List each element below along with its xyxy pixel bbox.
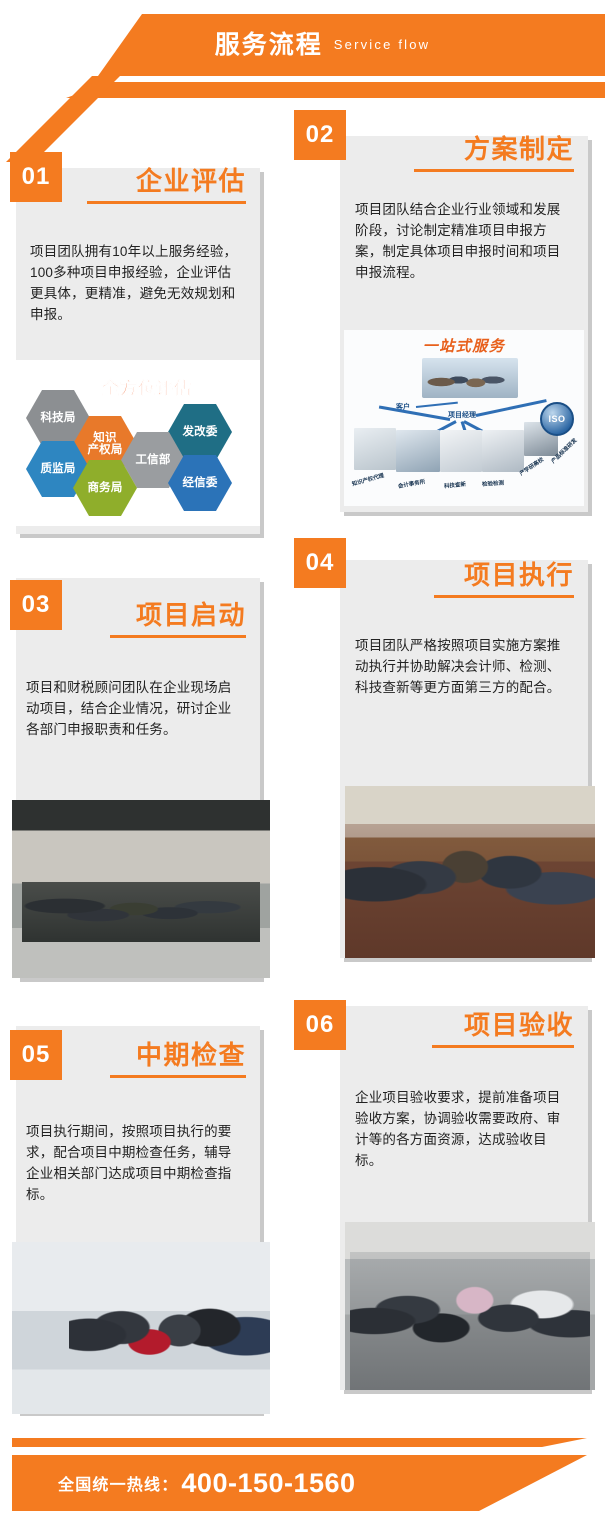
hex-node-label: 知识产权局 — [87, 432, 122, 457]
lobby-visit-photo — [12, 1242, 270, 1414]
iso-seal-text: ISO — [548, 414, 565, 424]
card-04-number: 04 — [306, 549, 335, 577]
hex-node-label: 科技局 — [40, 412, 75, 424]
card-05-title-rule — [110, 1075, 246, 1078]
footer-hotline: 全国统一热线： 400-150-1560 — [58, 1455, 356, 1511]
page-subtitle: Service flow — [334, 38, 430, 52]
one-stop-node-manager: 项目经理 — [448, 410, 476, 420]
card-06-title: 项目验收 — [400, 1012, 574, 1038]
card-05-number: 05 — [22, 1041, 51, 1069]
card-04-number-badge: 04 — [294, 538, 346, 588]
hex-node-label: 商务局 — [87, 482, 122, 494]
card-01-number: 01 — [22, 163, 51, 191]
meeting-table-working-photo — [345, 786, 595, 958]
card-04-body: 项目团队严格按照项目实施方案推动执行并协助解决会计师、检测、科技查新等更方面第三… — [355, 636, 571, 699]
photo-content — [345, 786, 595, 958]
one-stop-arrow — [379, 406, 450, 421]
header-title-group: 服务流程 Service flow — [0, 14, 605, 76]
one-stop-caption: 会计事务所 — [397, 477, 425, 490]
boardroom-acceptance-photo — [345, 1222, 595, 1390]
card-02-number: 02 — [306, 121, 335, 149]
hex-node-label: 经信委 — [182, 477, 217, 489]
one-stop-arrow — [416, 402, 458, 408]
card-02-body: 项目团队结合企业行业领域和发展阶段，讨论制定精准项目申报方案，制定具体项目申报时… — [355, 200, 567, 284]
card-06-number-badge: 06 — [294, 1000, 346, 1050]
one-stop-arrow — [476, 399, 547, 417]
card-03-title: 项目启动 — [76, 602, 246, 628]
card-02-title-rule — [414, 169, 574, 172]
footer-hotline-number[interactable]: 400-150-1560 — [181, 1468, 355, 1499]
photo-content — [12, 1242, 270, 1414]
card-03-number: 03 — [22, 591, 51, 619]
card-02-number-badge: 02 — [294, 110, 346, 160]
one-stop-title: 一站式服务 — [344, 335, 584, 356]
one-stop-caption: 检验检测 — [482, 478, 505, 488]
card-01-title: 企业评估 — [76, 168, 246, 194]
one-stop-tile-testing — [482, 430, 524, 472]
photo-content — [12, 800, 270, 978]
hexagon-assessment-diagram: 全方位评估 科技局 知识产权局 发改委 质监局 工信部 商务局 经信委 — [16, 360, 260, 526]
hexagon-diagram-title: 全方位评估 — [102, 374, 192, 399]
card-04-title: 项目执行 — [400, 562, 574, 588]
card-05-title: 中期检查 — [76, 1042, 246, 1068]
card-03-header: 项目启动 — [76, 602, 246, 638]
conference-room-kickoff-photo — [12, 800, 270, 978]
card-05-body: 项目执行期间，按照项目执行的要求，配合项目中期检查任务，辅导企业相关部门达成项目… — [26, 1122, 240, 1206]
one-stop-service-diagram: 一站式服务 客户 项目经理 ISO 知识产权代理 会计事务所 科技查新 检验检测… — [344, 330, 584, 506]
one-stop-iso-seal: ISO — [540, 402, 574, 436]
card-05-number-badge: 05 — [10, 1030, 62, 1080]
card-03-body: 项目和财税顾问团队在企业现场启动项目，结合企业情况，研讨企业各部门申报职责和任务… — [26, 678, 240, 741]
card-06-number: 06 — [306, 1011, 335, 1039]
card-01-title-rule — [87, 201, 246, 204]
one-stop-tile-accounting — [396, 430, 440, 472]
one-stop-tile-search — [440, 430, 482, 472]
card-06-body: 企业项目验收要求，提前准备项目验收方案，协调验收需要政府、审计等的各方面资源，达… — [355, 1088, 571, 1172]
page-title: 服务流程 — [215, 33, 323, 58]
card-04-title-rule — [434, 595, 574, 598]
hex-node-label: 发改委 — [182, 426, 217, 438]
card-03-title-rule — [110, 635, 246, 638]
footer-orange-stripe — [12, 1438, 587, 1447]
one-stop-tile-ip — [354, 428, 396, 470]
footer-hotline-label: 全国统一热线： — [58, 1471, 178, 1495]
one-stop-center-photo — [422, 358, 518, 398]
hex-node-label: 工信部 — [135, 454, 170, 466]
card-01-header: 企业评估 — [76, 168, 246, 204]
photo-content — [345, 1222, 595, 1390]
card-01-number-badge: 01 — [10, 152, 62, 202]
hex-node-label: 质监局 — [40, 463, 75, 475]
card-02-header: 方案制定 — [400, 136, 574, 172]
card-01-body: 项目团队拥有10年以上服务经验，100多种项目申报经验，企业评估更具体，更精准，… — [30, 242, 240, 326]
card-05-header: 中期检查 — [76, 1042, 246, 1078]
card-04-header: 项目执行 — [400, 562, 574, 598]
one-stop-caption: 科技查新 — [444, 480, 467, 490]
card-06-title-rule — [432, 1045, 574, 1048]
card-03-number-badge: 03 — [10, 580, 62, 630]
service-flow-infographic: 服务流程 Service flow 01 企业评估 项目团队拥有10年以上服务经… — [0, 0, 605, 1538]
one-stop-caption: 知识产权代理 — [351, 471, 385, 488]
card-06-header: 项目验收 — [400, 1012, 574, 1048]
card-02-title: 方案制定 — [400, 136, 574, 162]
